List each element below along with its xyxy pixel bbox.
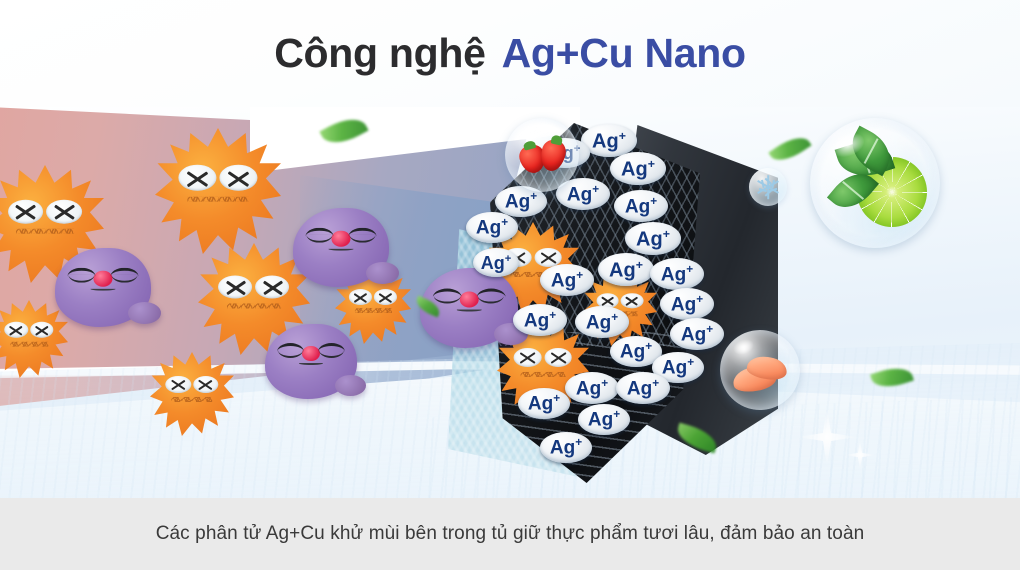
- germ-orange-face: [3, 322, 54, 347]
- germ-eye-closed-left: [67, 268, 95, 277]
- germ-eye-x-right: [30, 322, 54, 338]
- strawberry-bubble: [505, 118, 579, 192]
- germ-eyes: [164, 376, 219, 393]
- germ-eye-closed-right: [476, 289, 505, 298]
- germ-mouth: [521, 372, 566, 377]
- ag-ion-pellet: Ag+: [518, 388, 570, 419]
- germ-eye-x-left: [219, 276, 253, 299]
- germ-orange-face: [513, 348, 574, 376]
- ag-ion-pellet: Ag+: [473, 248, 519, 277]
- germ-eye-x-right: [544, 348, 572, 367]
- germ-purple-face: [305, 228, 376, 251]
- ag-ion-pellet: Ag+: [578, 404, 630, 435]
- germ-orange: [155, 128, 281, 254]
- germ-eyes: [513, 348, 574, 367]
- ag-ion-pellet: Ag+: [466, 212, 518, 243]
- germ-eye-x-left: [349, 289, 372, 305]
- ag-ion-pellet: Ag+: [670, 318, 724, 350]
- germ-tongue: [91, 289, 115, 291]
- germ-nose: [460, 292, 479, 308]
- title-accent-text: Ag+Cu Nano: [502, 30, 746, 76]
- title-plain-text: Công nghệ: [274, 30, 485, 76]
- ag-ion-pellet: Ag+: [660, 288, 714, 320]
- germ-eye-x-left: [165, 376, 191, 393]
- germ-eye-closed-left: [433, 289, 462, 298]
- germ-tongue: [457, 310, 482, 312]
- page-title: Công nghệAg+Cu Nano: [274, 30, 746, 77]
- ag-ion-pellet: Ag+: [598, 253, 654, 286]
- germ-mouth: [354, 308, 391, 313]
- caption-band: Các phân tử Ag+Cu khử mùi bên trong tủ g…: [0, 498, 1020, 570]
- germ-orange-face: [217, 276, 291, 309]
- meat-bubble: [720, 330, 800, 410]
- germ-orange: [150, 352, 234, 436]
- germ-eyes: [217, 276, 291, 299]
- ag-ion-pellet: Ag+: [540, 432, 592, 463]
- germ-mouth: [16, 229, 74, 234]
- germ-purple-face: [277, 343, 345, 365]
- ag-ion-pellet: Ag+: [625, 222, 681, 255]
- germ-orange-face: [348, 289, 398, 313]
- germ-mouth: [10, 342, 48, 347]
- germ-eye-closed-left: [305, 228, 333, 237]
- germ-purple-face: [433, 289, 506, 312]
- germ-eye-closed-right: [110, 268, 138, 277]
- header-banner: Công nghệAg+Cu Nano: [0, 0, 1020, 107]
- leaf-icon: [768, 130, 811, 167]
- germ-purple: [265, 324, 357, 399]
- illustration-area: Ag+Ag+Ag+Ag+Ag+Ag+Ag+Ag+Ag+Ag+Ag+Ag+Ag+A…: [0, 107, 1020, 498]
- germ-eye-x-left: [178, 165, 216, 191]
- germ-eye-x-right: [47, 200, 83, 224]
- germ-eye-x-left: [8, 200, 44, 224]
- infographic-slide: Công nghệAg+Cu Nano Ag+Ag+Ag+Ag+Ag+Ag+Ag…: [0, 0, 1020, 570]
- ag-ion-pellet: Ag+: [513, 304, 567, 336]
- germ-mouth: [227, 304, 282, 309]
- caption-text: Các phân tử Ag+Cu khử mùi bên trong tủ g…: [156, 523, 865, 545]
- germ-eye-closed-left: [277, 343, 304, 352]
- germ-tongue: [299, 363, 322, 365]
- germ-eyes: [3, 322, 54, 338]
- germ-eyes: [6, 200, 84, 224]
- snowflake-icon: [756, 175, 780, 199]
- germ-eye-x-right: [220, 165, 258, 191]
- germ-eye-closed-right: [318, 343, 345, 352]
- germ-orange-face: [176, 165, 259, 202]
- germ-purple: [55, 248, 151, 327]
- germ-nose: [332, 231, 350, 247]
- germ-eye-closed-right: [348, 228, 376, 237]
- lime-mint-bubble: [810, 118, 940, 248]
- germ-eye-x-right: [255, 276, 289, 299]
- germ-mouth: [171, 397, 212, 402]
- germ-mouth: [187, 197, 249, 202]
- germ-nose: [94, 271, 112, 287]
- germ-eye-x-right: [374, 289, 397, 305]
- germ-eyes: [176, 165, 259, 191]
- ag-ion-pellet: Ag+: [565, 372, 619, 404]
- ag-ion-pellet: Ag+: [575, 306, 629, 338]
- germ-eye-x-left: [514, 348, 542, 367]
- germ-purple-face: [67, 268, 138, 291]
- germ-purple: [293, 208, 389, 287]
- ag-ion-pellet: Ag+: [540, 264, 594, 296]
- ag-ion-pellet: Ag+: [614, 190, 668, 222]
- germ-eye-x-right: [193, 376, 219, 393]
- germ-eye-x-left: [4, 322, 28, 338]
- ag-ion-pellet: Ag+: [616, 372, 670, 404]
- germ-eye-x-right: [621, 293, 643, 308]
- ag-ion-pellet: Ag+: [610, 152, 666, 185]
- snowflake-bubble: [749, 168, 787, 206]
- germ-orange-face: [164, 376, 219, 402]
- ag-ion-pellet: Ag+: [650, 258, 704, 290]
- germ-nose: [302, 346, 320, 361]
- germ-tongue: [329, 249, 353, 251]
- germ-orange-face: [6, 200, 84, 235]
- germ-eyes: [348, 289, 398, 305]
